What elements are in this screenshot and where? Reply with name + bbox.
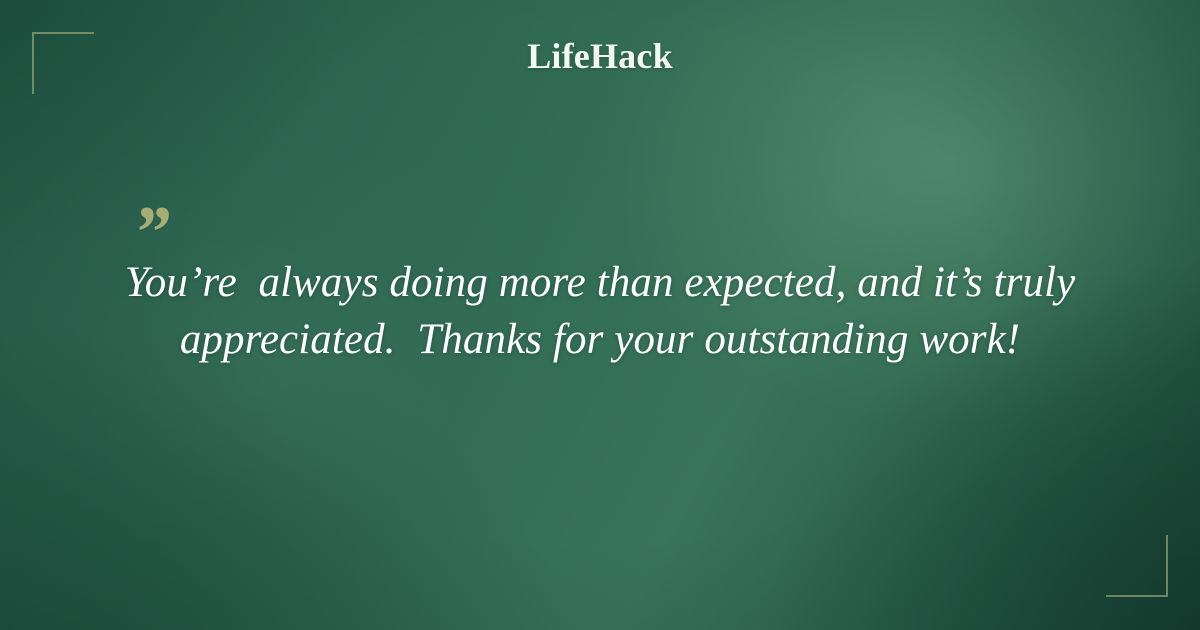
quote-block: ” You’re always doing more than expected… <box>100 196 1100 368</box>
quote-card: LifeHack ” You’re always doing more than… <box>0 0 1200 630</box>
quote-text: You’re always doing more than expected, … <box>100 254 1100 368</box>
brand-logo: LifeHack <box>0 38 1200 74</box>
quotation-mark-icon: ” <box>133 196 1100 240</box>
